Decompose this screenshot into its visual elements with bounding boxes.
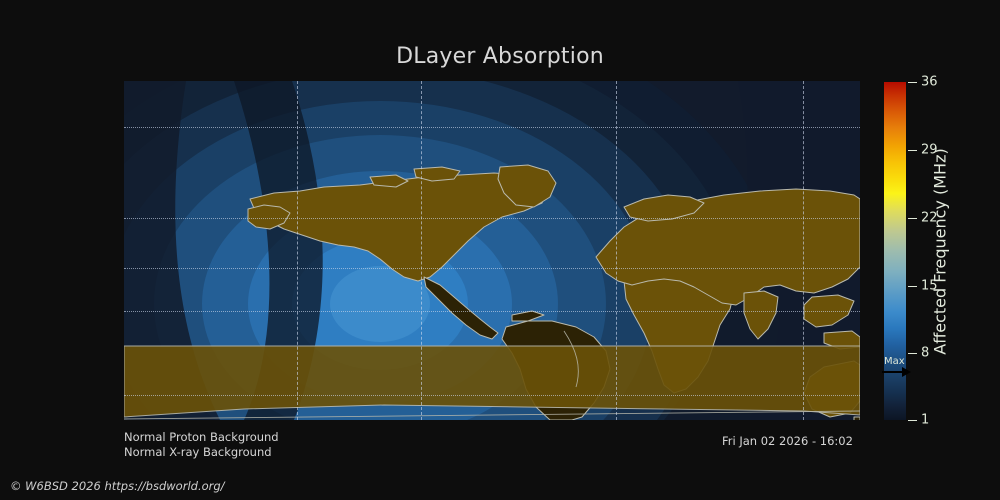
colorbar-tick-1: [908, 420, 917, 421]
gridline-latitude-60s: [124, 395, 860, 396]
colorbar-axis-label: Affected Frequency (MHz): [928, 82, 952, 420]
colorbar-tick-36: [908, 82, 917, 83]
page-title: DLayer Absorption: [0, 44, 1000, 69]
max-marker-arrow-icon: [882, 367, 912, 377]
status-xray-background: Normal X-ray Background: [124, 445, 279, 460]
status-proton-background: Normal Proton Background: [124, 430, 279, 445]
absorption-contour-layer: [124, 81, 860, 420]
colorbar-max-marker: Max: [882, 357, 912, 377]
land-new-zealand: [854, 417, 860, 420]
gridline-latitude-15n: [124, 268, 860, 269]
gridline-latitude-0: [124, 311, 860, 312]
gridline-longitude-180: [803, 81, 804, 420]
gridline-longitude-minus90: [297, 81, 298, 420]
max-marker-label: Max: [882, 357, 905, 367]
dlayer-absorption-chart: DLayer Absorption: [0, 0, 1000, 500]
gridline-longitude-0: [421, 81, 422, 420]
map-panel[interactable]: [124, 81, 860, 420]
colorbar-tick-8: [908, 353, 917, 354]
status-block: Normal Proton Background Normal X-ray Ba…: [124, 430, 279, 460]
gridline-latitude-30n: [124, 218, 860, 219]
footer-credit: © W6BSD 2026 https://bsdworld.org/: [10, 479, 225, 493]
timestamp: Fri Jan 02 2026 - 16:02: [722, 434, 853, 448]
gridline-latitude-60n: [124, 127, 860, 128]
colorbar-tick-15: [908, 286, 917, 287]
gridline-longitude-90: [616, 81, 617, 420]
colorbar-axis-label-text: Affected Frequency (MHz): [931, 148, 950, 354]
colorbar-tick-29: [908, 150, 917, 151]
land-antarctica: [124, 346, 860, 417]
colorbar-tick-22: [908, 218, 917, 219]
